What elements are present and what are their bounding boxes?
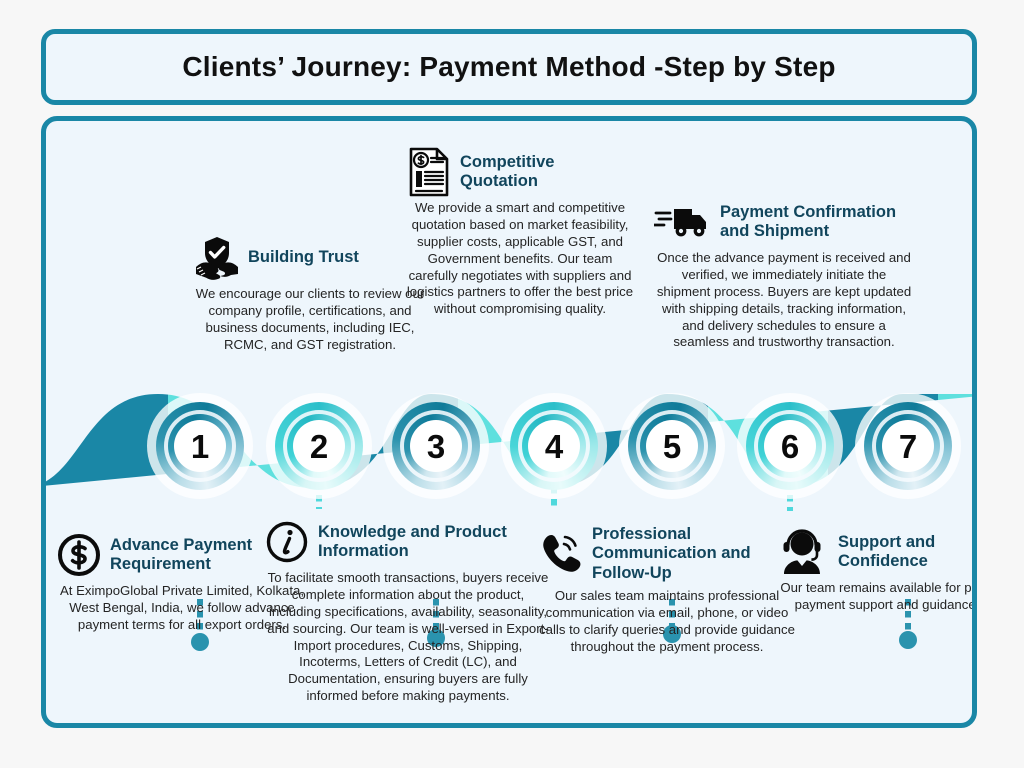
info-head: Support and Confidence <box>776 529 977 575</box>
info-title: Competitive Quotation <box>460 153 634 192</box>
step-disc: 4 <box>528 420 580 472</box>
title-panel: Clients’ Journey: Payment Method -Step b… <box>41 29 977 105</box>
step-number: 7 <box>899 430 917 463</box>
info-head: Knowledge and Product Information <box>264 519 552 565</box>
step-disc: 7 <box>882 420 934 472</box>
info-block-step-2: Building Trust We encourage our clients … <box>194 235 426 354</box>
step-node-5[interactable]: 5 <box>619 393 725 499</box>
info-title: Support and Confidence <box>838 533 977 572</box>
info-head: Building Trust <box>194 235 426 281</box>
info-body: We provide a smart and competitive quota… <box>406 200 634 318</box>
info-body: We encourage our clients to review our c… <box>194 286 426 354</box>
connector-knob <box>191 633 209 651</box>
info-block-step-7: Support and Confidence Our team remains … <box>776 529 977 614</box>
support-agent-icon <box>776 529 830 575</box>
info-body: Once the advance payment is received and… <box>654 250 914 351</box>
connector-knob <box>899 631 917 649</box>
info-block-step-4: Competitive Quotation We provide a smart… <box>406 149 634 318</box>
step-disc: 5 <box>646 420 698 472</box>
info-title: Knowledge and Product Information <box>318 523 552 562</box>
info-head: Payment Confirmation and Shipment <box>654 199 914 245</box>
step-disc: 1 <box>174 420 226 472</box>
info-body: Our team remains available for post-paym… <box>776 580 977 614</box>
step-number: 3 <box>427 430 445 463</box>
step-node-6[interactable]: 6 <box>737 393 843 499</box>
step-node-2[interactable]: 2 <box>266 393 372 499</box>
info-circle-icon <box>264 519 310 565</box>
info-title: Professional Communication and Follow-Up <box>592 525 796 583</box>
step-number: 4 <box>545 430 563 463</box>
page-title: Clients’ Journey: Payment Method -Step b… <box>182 51 835 83</box>
step-node-7[interactable]: 7 <box>855 393 961 499</box>
info-title: Building Trust <box>248 248 359 267</box>
step-number: 6 <box>781 430 799 463</box>
info-head: Competitive Quotation <box>406 149 634 195</box>
info-block-step-5: Professional Communication and Follow-Up… <box>538 525 796 656</box>
info-head: Professional Communication and Follow-Up <box>538 525 796 583</box>
step-disc: 3 <box>410 420 462 472</box>
step-node-4[interactable]: 4 <box>501 393 607 499</box>
info-body: Our sales team maintains professional co… <box>538 588 796 656</box>
info-title: Payment Confirmation and Shipment <box>720 203 914 242</box>
handshake-shield-icon <box>194 235 240 281</box>
step-number: 2 <box>310 430 328 463</box>
invoice-document-icon <box>406 149 452 195</box>
step-number: 1 <box>191 430 209 463</box>
step-node-1[interactable]: 1 <box>147 393 253 499</box>
info-body: To facilitate smooth transactions, buyer… <box>264 570 552 705</box>
step-number: 5 <box>663 430 681 463</box>
journey-panel: 1 2 3 <box>41 116 977 728</box>
step-disc: 2 <box>293 420 345 472</box>
step-disc: 6 <box>764 420 816 472</box>
delivery-truck-icon <box>654 199 712 245</box>
info-block-step-6: Payment Confirmation and Shipment Once t… <box>654 199 914 351</box>
info-block-step-3: Knowledge and Product Information To fac… <box>264 519 552 705</box>
dollar-circle-icon <box>56 532 102 578</box>
ringing-phone-icon <box>538 531 584 577</box>
journey-stage: 1 2 3 <box>46 121 972 723</box>
infographic-root: Clients’ Journey: Payment Method -Step b… <box>0 0 1024 768</box>
step-node-3[interactable]: 3 <box>383 393 489 499</box>
